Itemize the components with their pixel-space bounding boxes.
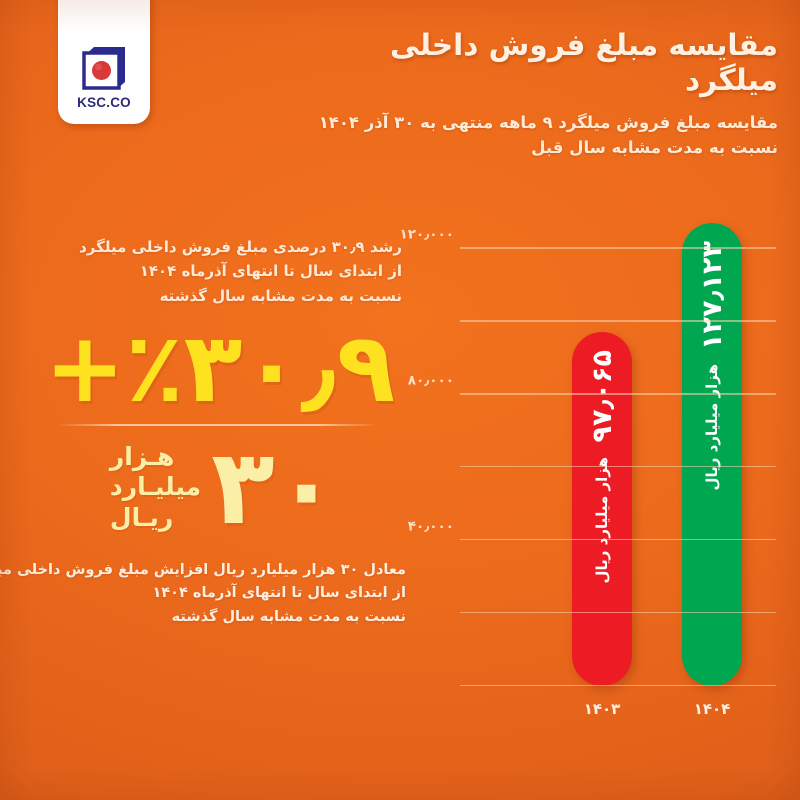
- chart-bar-content: ۱۲۷٫۱۲۳هزار میلیارد ریال: [682, 223, 742, 686]
- chart-bar-value: ۹۷٫۰۶۵: [587, 350, 618, 442]
- header-subtitle-line-1: مقایسه مبلغ فروش میلگرد ۹ ماهه منتهی به …: [308, 110, 778, 136]
- chart-bar-value: ۱۲۷٫۱۲۳: [697, 241, 728, 350]
- chart-y-tick-label: ۸۰٫۰۰۰: [408, 373, 454, 389]
- chart-bar-unit: هزار میلیارد ریال: [593, 457, 611, 584]
- growth-amount-unit-line-3: ریـال: [110, 503, 173, 533]
- chart-bar-column[interactable]: ۹۷٫۰۶۵هزار میلیارد ریال۱۴۰۳: [572, 332, 632, 686]
- chart-y-tick-label: ۱۲۰٫۰۰۰: [400, 227, 454, 243]
- growth-note-line-2: از ابتدای سال تا انتهای آذرماه ۱۴۰۴: [24, 259, 402, 283]
- chart-gridline: [460, 612, 776, 614]
- chart-bar-content: ۹۷٫۰۶۵هزار میلیارد ریال: [572, 332, 632, 686]
- chart-x-category-label: ۱۴۰۴: [694, 700, 731, 718]
- infographic-poster: KSC.CO مقایسه مبلغ فروش داخلی میلگرد مقا…: [0, 0, 800, 800]
- chart-bar-۱۴۰۳[interactable]: ۹۷٫۰۶۵هزار میلیارد ریال: [572, 332, 632, 686]
- growth-percent-headline: ‎+٪۳۰٫۹: [0, 320, 420, 418]
- growth-amount-unit: هـزار میلیـارد ریـال: [110, 442, 201, 533]
- left-panel: رشد ۳۰٫۹ درصدی مبلغ فروش داخلی میلگرد از…: [0, 235, 420, 629]
- chart-bar-۱۴۰۴[interactable]: ۱۲۷٫۱۲۳هزار میلیارد ریال: [682, 223, 742, 686]
- growth-caption: معادل ۳۰ هزار میلیارد ریال افزایش مبلغ ف…: [0, 559, 420, 629]
- page-title: مقایسه مبلغ فروش داخلی میلگرد: [308, 28, 778, 98]
- chart-gridline: ۸۰٫۰۰۰: [460, 393, 776, 395]
- chart-gridline: [460, 466, 776, 468]
- growth-note-line-1: رشد ۳۰٫۹ درصدی مبلغ فروش داخلی میلگرد: [24, 235, 402, 259]
- cube-with-red-circle-icon: [79, 43, 129, 91]
- growth-note-line-3: نسبت به مدت مشابه سال گذشته: [24, 284, 402, 308]
- chart-gridline: ۱۲۰٫۰۰۰: [460, 247, 776, 249]
- growth-amount-number: ۳۰: [211, 438, 338, 537]
- header: مقایسه مبلغ فروش داخلی میلگرد مقایسه مبل…: [308, 28, 778, 161]
- chart-bars: ۹۷٫۰۶۵هزار میلیارد ریال۱۴۰۳۱۲۷٫۱۲۳هزار م…: [460, 176, 776, 686]
- growth-amount-unit-line-2: میلیـارد: [110, 472, 201, 502]
- brand-logo-text: KSC.CO: [77, 95, 131, 110]
- chart-gridline: [460, 320, 776, 322]
- chart-x-category-label: ۱۴۰۳: [584, 700, 621, 718]
- growth-amount-unit-line-1: هـزار: [110, 442, 174, 472]
- chart-gridline: ۴۰٫۰۰۰: [460, 539, 776, 541]
- chart-y-tick-label: ۴۰٫۰۰۰: [408, 518, 454, 534]
- header-subtitle: مقایسه مبلغ فروش میلگرد ۹ ماهه منتهی به …: [308, 110, 778, 161]
- growth-amount: ۳۰ هـزار میلیـارد ریـال: [0, 438, 420, 537]
- growth-caption-line-3: نسبت به مدت مشابه سال گذشته: [24, 606, 406, 629]
- growth-caption-line-1: معادل ۳۰ هزار میلیارد ریال افزایش مبلغ ف…: [24, 559, 406, 582]
- sales-comparison-chart: ۹۷٫۰۶۵هزار میلیارد ریال۱۴۰۳۱۲۷٫۱۲۳هزار م…: [432, 176, 784, 746]
- growth-caption-line-2: از ابتدای سال تا انتهای آذرماه ۱۴۰۴: [24, 582, 406, 605]
- chart-gridline: [460, 685, 776, 687]
- growth-note: رشد ۳۰٫۹ درصدی مبلغ فروش داخلی میلگرد از…: [0, 235, 420, 308]
- brand-logo-card: KSC.CO: [58, 0, 150, 124]
- chart-bar-column[interactable]: ۱۲۷٫۱۲۳هزار میلیارد ریال۱۴۰۴: [682, 223, 742, 686]
- header-subtitle-line-2: نسبت به مدت مشابه سال قبل: [308, 135, 778, 161]
- chart-plot-area: ۹۷٫۰۶۵هزار میلیارد ریال۱۴۰۳۱۲۷٫۱۲۳هزار م…: [460, 176, 776, 686]
- chart-bar-unit: هزار میلیارد ریال: [703, 364, 721, 491]
